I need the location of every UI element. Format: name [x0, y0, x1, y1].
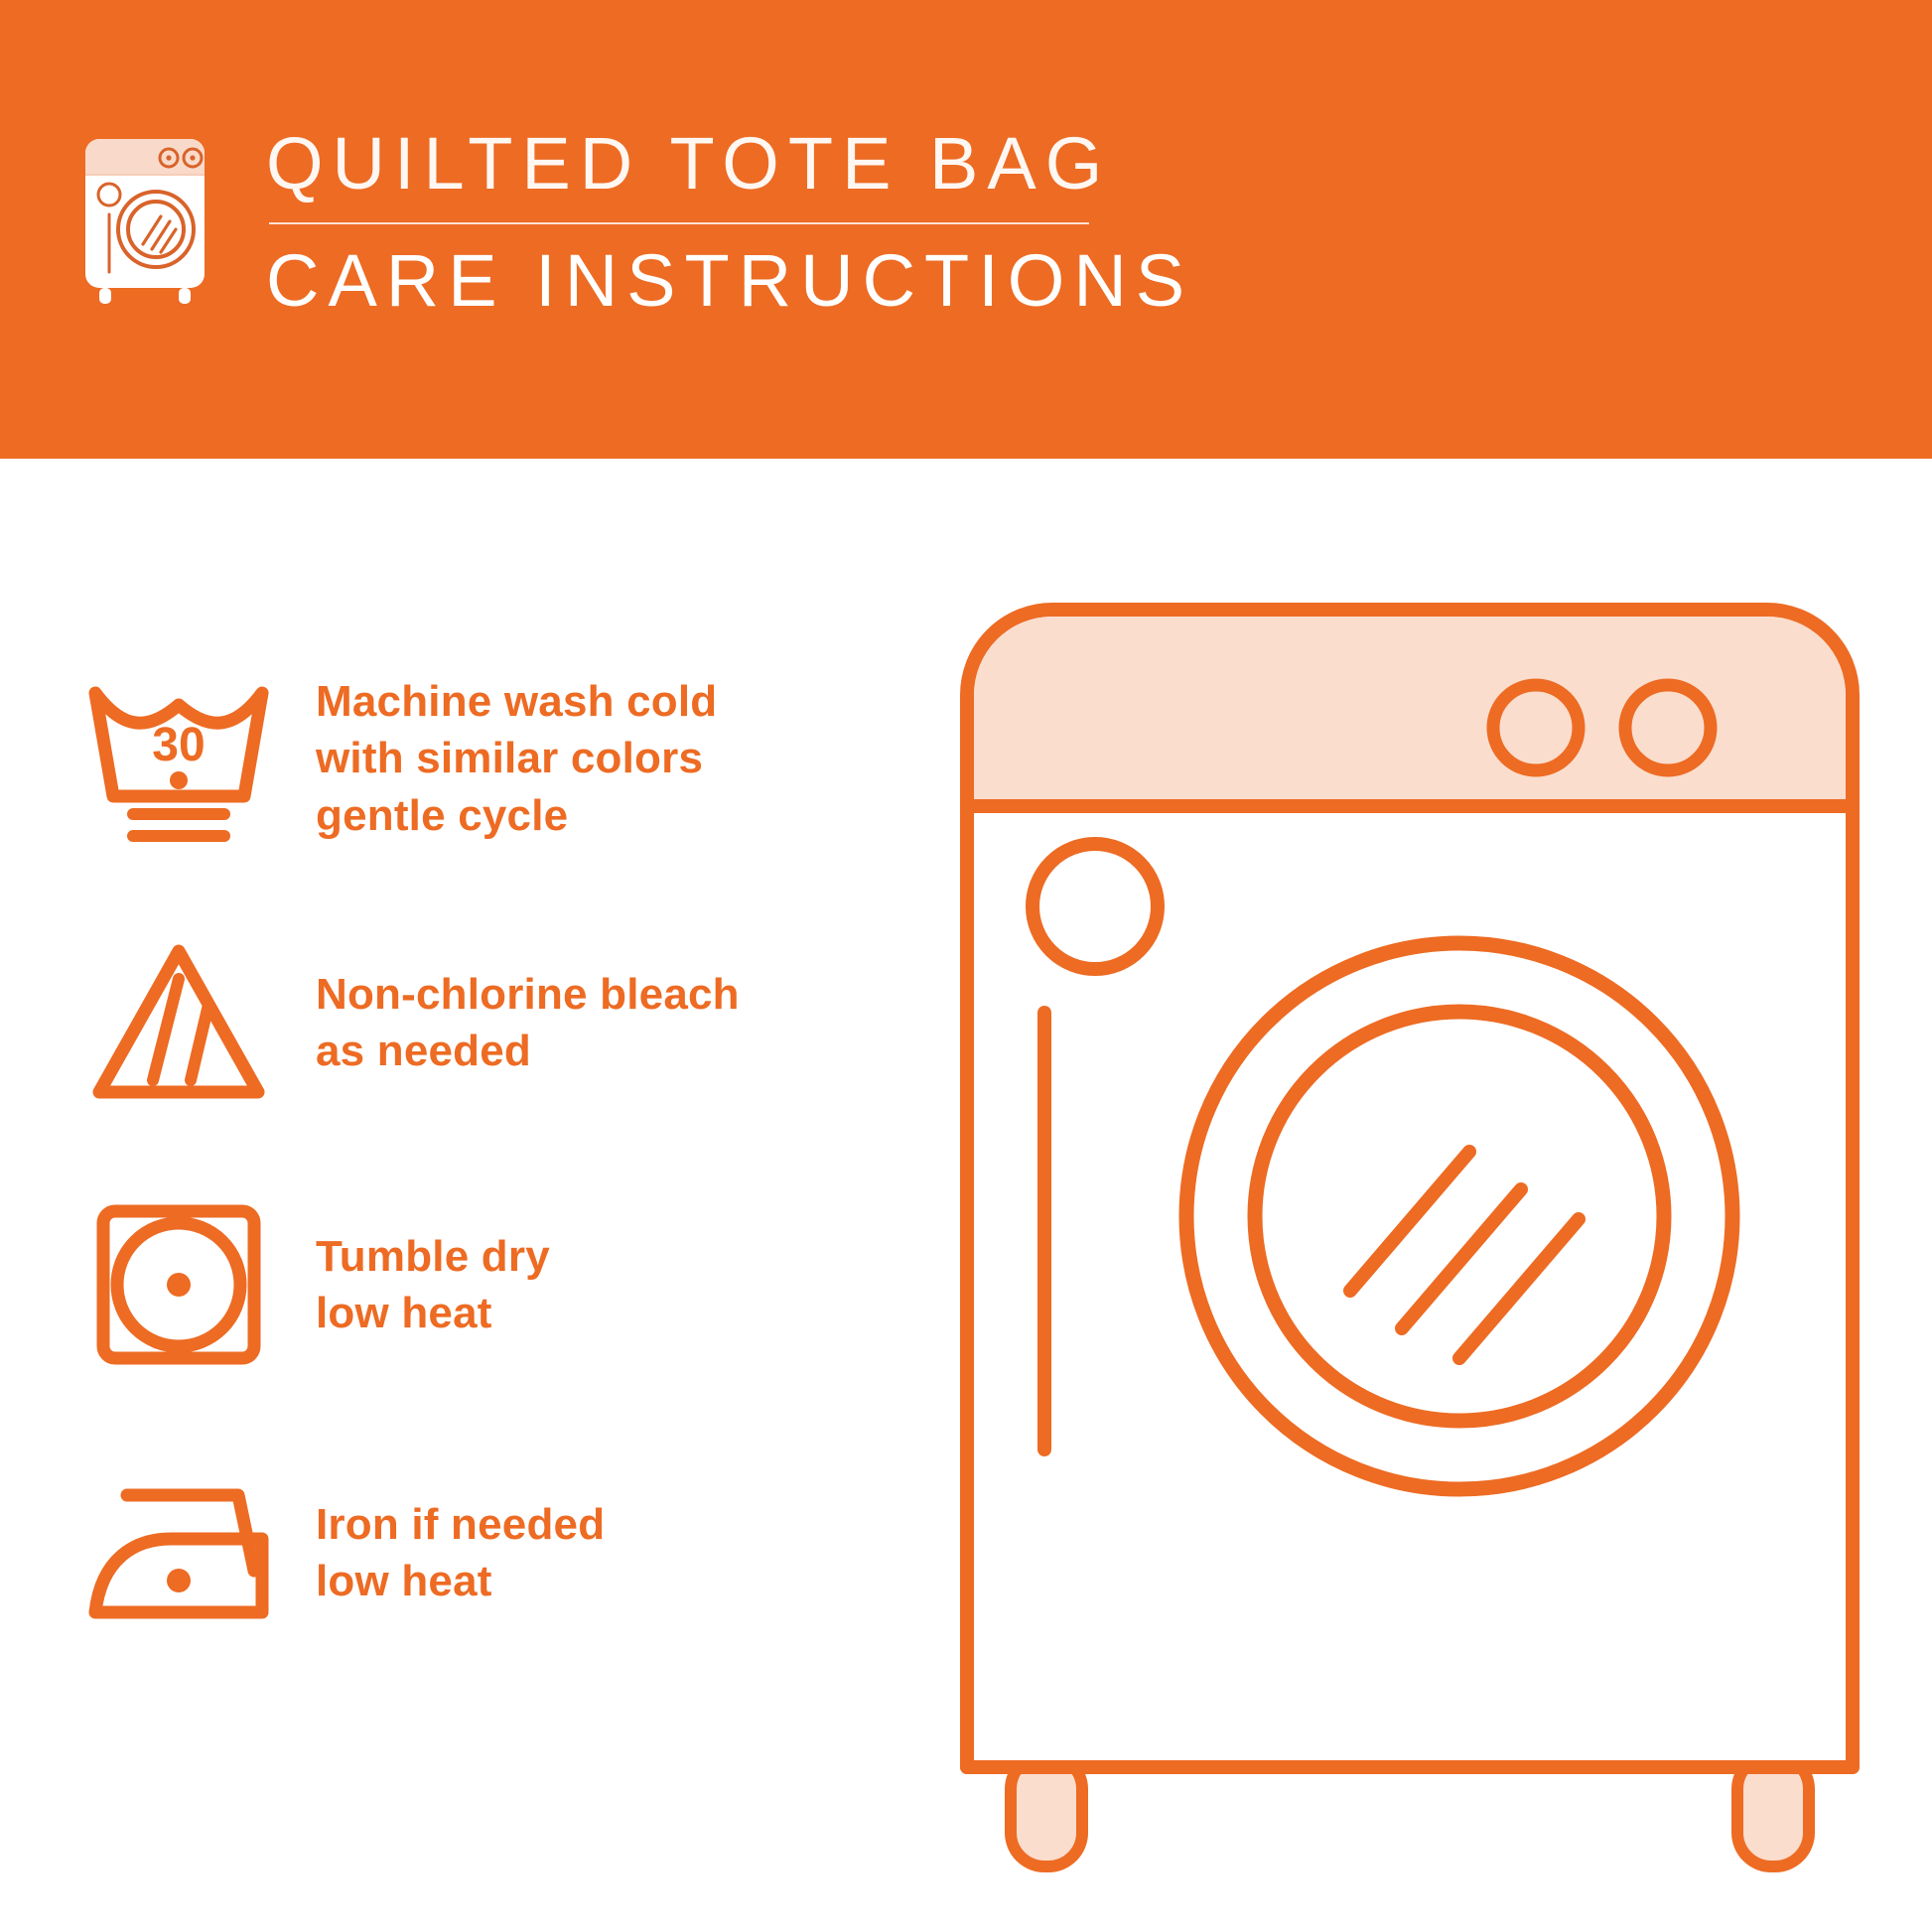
- care-label: Iron if needed low heat: [316, 1496, 605, 1609]
- front-load-washing-machine-illustration: [953, 596, 1866, 1876]
- header-content: QUILTED TOTE BAG CARE INSTRUCTIONS: [77, 127, 1193, 318]
- tumble-dry-low-heat-icon: [79, 1195, 278, 1374]
- care-row-bleach: Non-chlorine bleach as needed: [79, 933, 933, 1112]
- care-instruction-list: 30 Machine wash cold with similar colors…: [0, 459, 973, 1932]
- care-label: Non-chlorine bleach as needed: [316, 966, 740, 1079]
- care-label: Tumble dry low heat: [316, 1228, 550, 1341]
- care-row-tumble-dry: Tumble dry low heat: [79, 1195, 933, 1374]
- page-title: QUILTED TOTE BAG: [266, 127, 1193, 201]
- washing-machine-icon: [77, 133, 226, 307]
- care-row-machine-wash: 30 Machine wash cold with similar colors…: [79, 669, 933, 848]
- header-banner: QUILTED TOTE BAG CARE INSTRUCTIONS: [0, 0, 1932, 459]
- header-text-block: QUILTED TOTE BAG CARE INSTRUCTIONS: [266, 127, 1193, 318]
- wash-tub-30-gentle-icon: 30: [79, 669, 278, 848]
- bleach-triangle-non-chlorine-icon: [79, 933, 278, 1112]
- care-row-iron: Iron if needed low heat: [79, 1463, 933, 1642]
- iron-low-heat-icon: [79, 1463, 278, 1642]
- svg-text:30: 30: [152, 719, 205, 771]
- page-subtitle: CARE INSTRUCTIONS: [266, 244, 1193, 318]
- care-label: Machine wash cold with similar colors ge…: [316, 673, 717, 844]
- title-divider: [269, 222, 1089, 224]
